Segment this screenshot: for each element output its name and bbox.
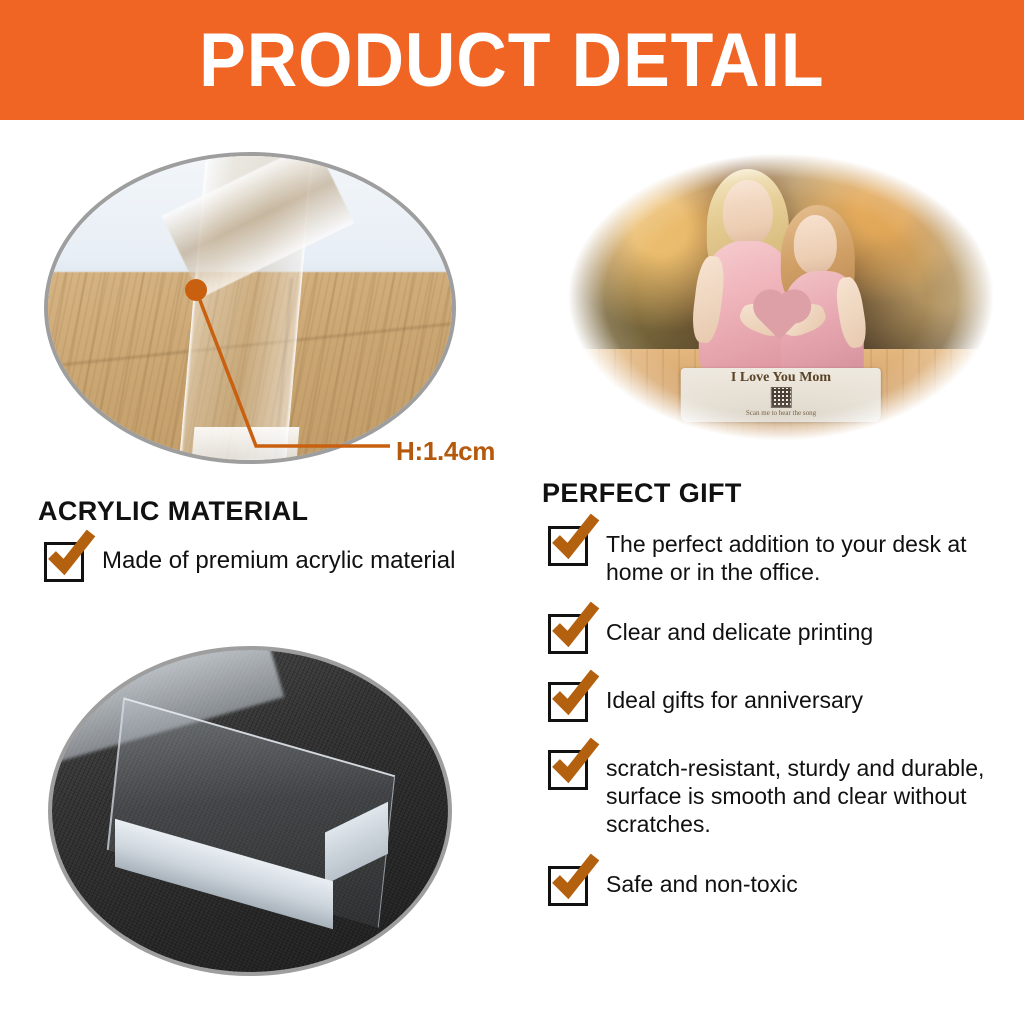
check-icon (549, 515, 599, 565)
qr-code-icon (770, 387, 791, 408)
feature-item: Ideal gifts for anniversary (548, 680, 998, 722)
feature-item: Made of premium acrylic material (44, 540, 514, 582)
daughter-head (793, 215, 836, 274)
header-banner: PRODUCT DETAIL (0, 0, 1024, 120)
checkbox-checked[interactable] (548, 750, 588, 790)
feature-item: Safe and non-toxic (548, 864, 998, 906)
feature-text: scratch-resistant, sturdy and durable, s… (606, 748, 998, 838)
check-icon (45, 531, 95, 581)
check-icon (549, 855, 599, 905)
wood-floor-scene (48, 156, 452, 460)
figurine-plaque: I Love You Mom Scan me to hear the song (681, 368, 881, 422)
feature-item: Clear and delicate printing (548, 612, 998, 654)
slate-background (52, 650, 448, 972)
feature-text: Clear and delicate printing (606, 612, 873, 646)
checkbox-checked[interactable] (548, 614, 588, 654)
plaque-title: I Love You Mom (731, 371, 831, 385)
feature-list-perfect-gift: The perfect addition to your desk at hom… (548, 524, 998, 932)
feature-text: The perfect addition to your desk at hom… (606, 524, 998, 586)
checkbox-checked[interactable] (548, 526, 588, 566)
check-icon (549, 603, 599, 653)
feature-item: The perfect addition to your desk at hom… (548, 524, 998, 586)
dimension-label: H:1.4cm (396, 436, 495, 467)
acrylic-slab-base (192, 427, 300, 460)
figurine-sculpture: I Love You Mom Scan me to hear the song (678, 169, 884, 424)
feature-text: Ideal gifts for anniversary (606, 680, 863, 714)
plaque-subtitle: Scan me to hear the song (746, 410, 816, 417)
photo-acrylic-edge (44, 152, 456, 464)
feature-list-acrylic-material: Made of premium acrylic material (44, 540, 514, 600)
checkbox-checked[interactable] (548, 682, 588, 722)
photo-figurine: I Love You Mom Scan me to hear the song (566, 152, 996, 442)
feature-text: Safe and non-toxic (606, 864, 798, 898)
feature-item: scratch-resistant, sturdy and durable, s… (548, 748, 998, 838)
checkbox-checked[interactable] (44, 542, 84, 582)
feature-text: Made of premium acrylic material (102, 540, 455, 575)
check-icon (549, 739, 599, 789)
check-icon (549, 671, 599, 721)
checkbox-checked[interactable] (548, 866, 588, 906)
photo-acrylic-block (48, 646, 452, 976)
heading-perfect-gift: PERFECT GIFT (542, 478, 742, 509)
page-title: PRODUCT DETAIL (199, 23, 824, 99)
mother-head (723, 180, 773, 246)
heading-acrylic-material: ACRYLIC MATERIAL (38, 496, 308, 527)
